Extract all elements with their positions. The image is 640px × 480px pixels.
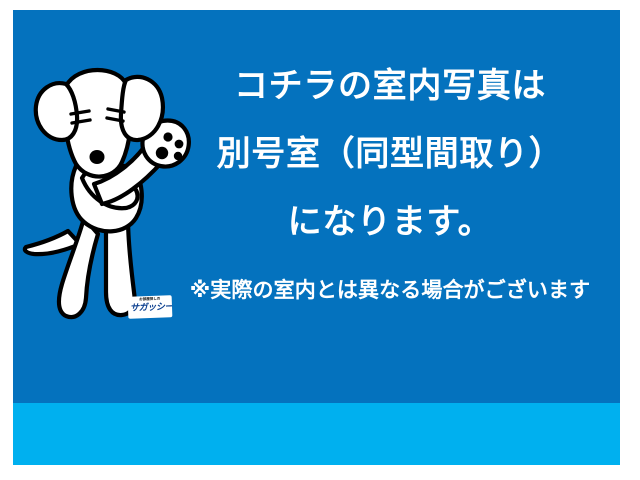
sagassy-logo-badge: お部屋探しの サガッシー	[128, 295, 173, 319]
logo-name: サガッシー	[130, 301, 170, 313]
notice-line-3: になります。	[175, 188, 605, 256]
mascot-dog-illustration	[22, 58, 200, 330]
notice-line-1: コチラの室内写真は	[175, 52, 605, 120]
bottom-color-band	[13, 403, 620, 465]
notice-disclaimer: ※実際の室内とは異なる場合がございます	[175, 278, 605, 304]
notice-line-2: 別号室（同型間取り）	[175, 120, 605, 188]
notice-text-block: コチラの室内写真は 別号室（同型間取り） になります。 ※実際の室内とは異なる場…	[175, 52, 605, 304]
placeholder-image: お部屋探しの サガッシー コチラの室内写真は 別号室（同型間取り） になります。…	[0, 0, 640, 480]
